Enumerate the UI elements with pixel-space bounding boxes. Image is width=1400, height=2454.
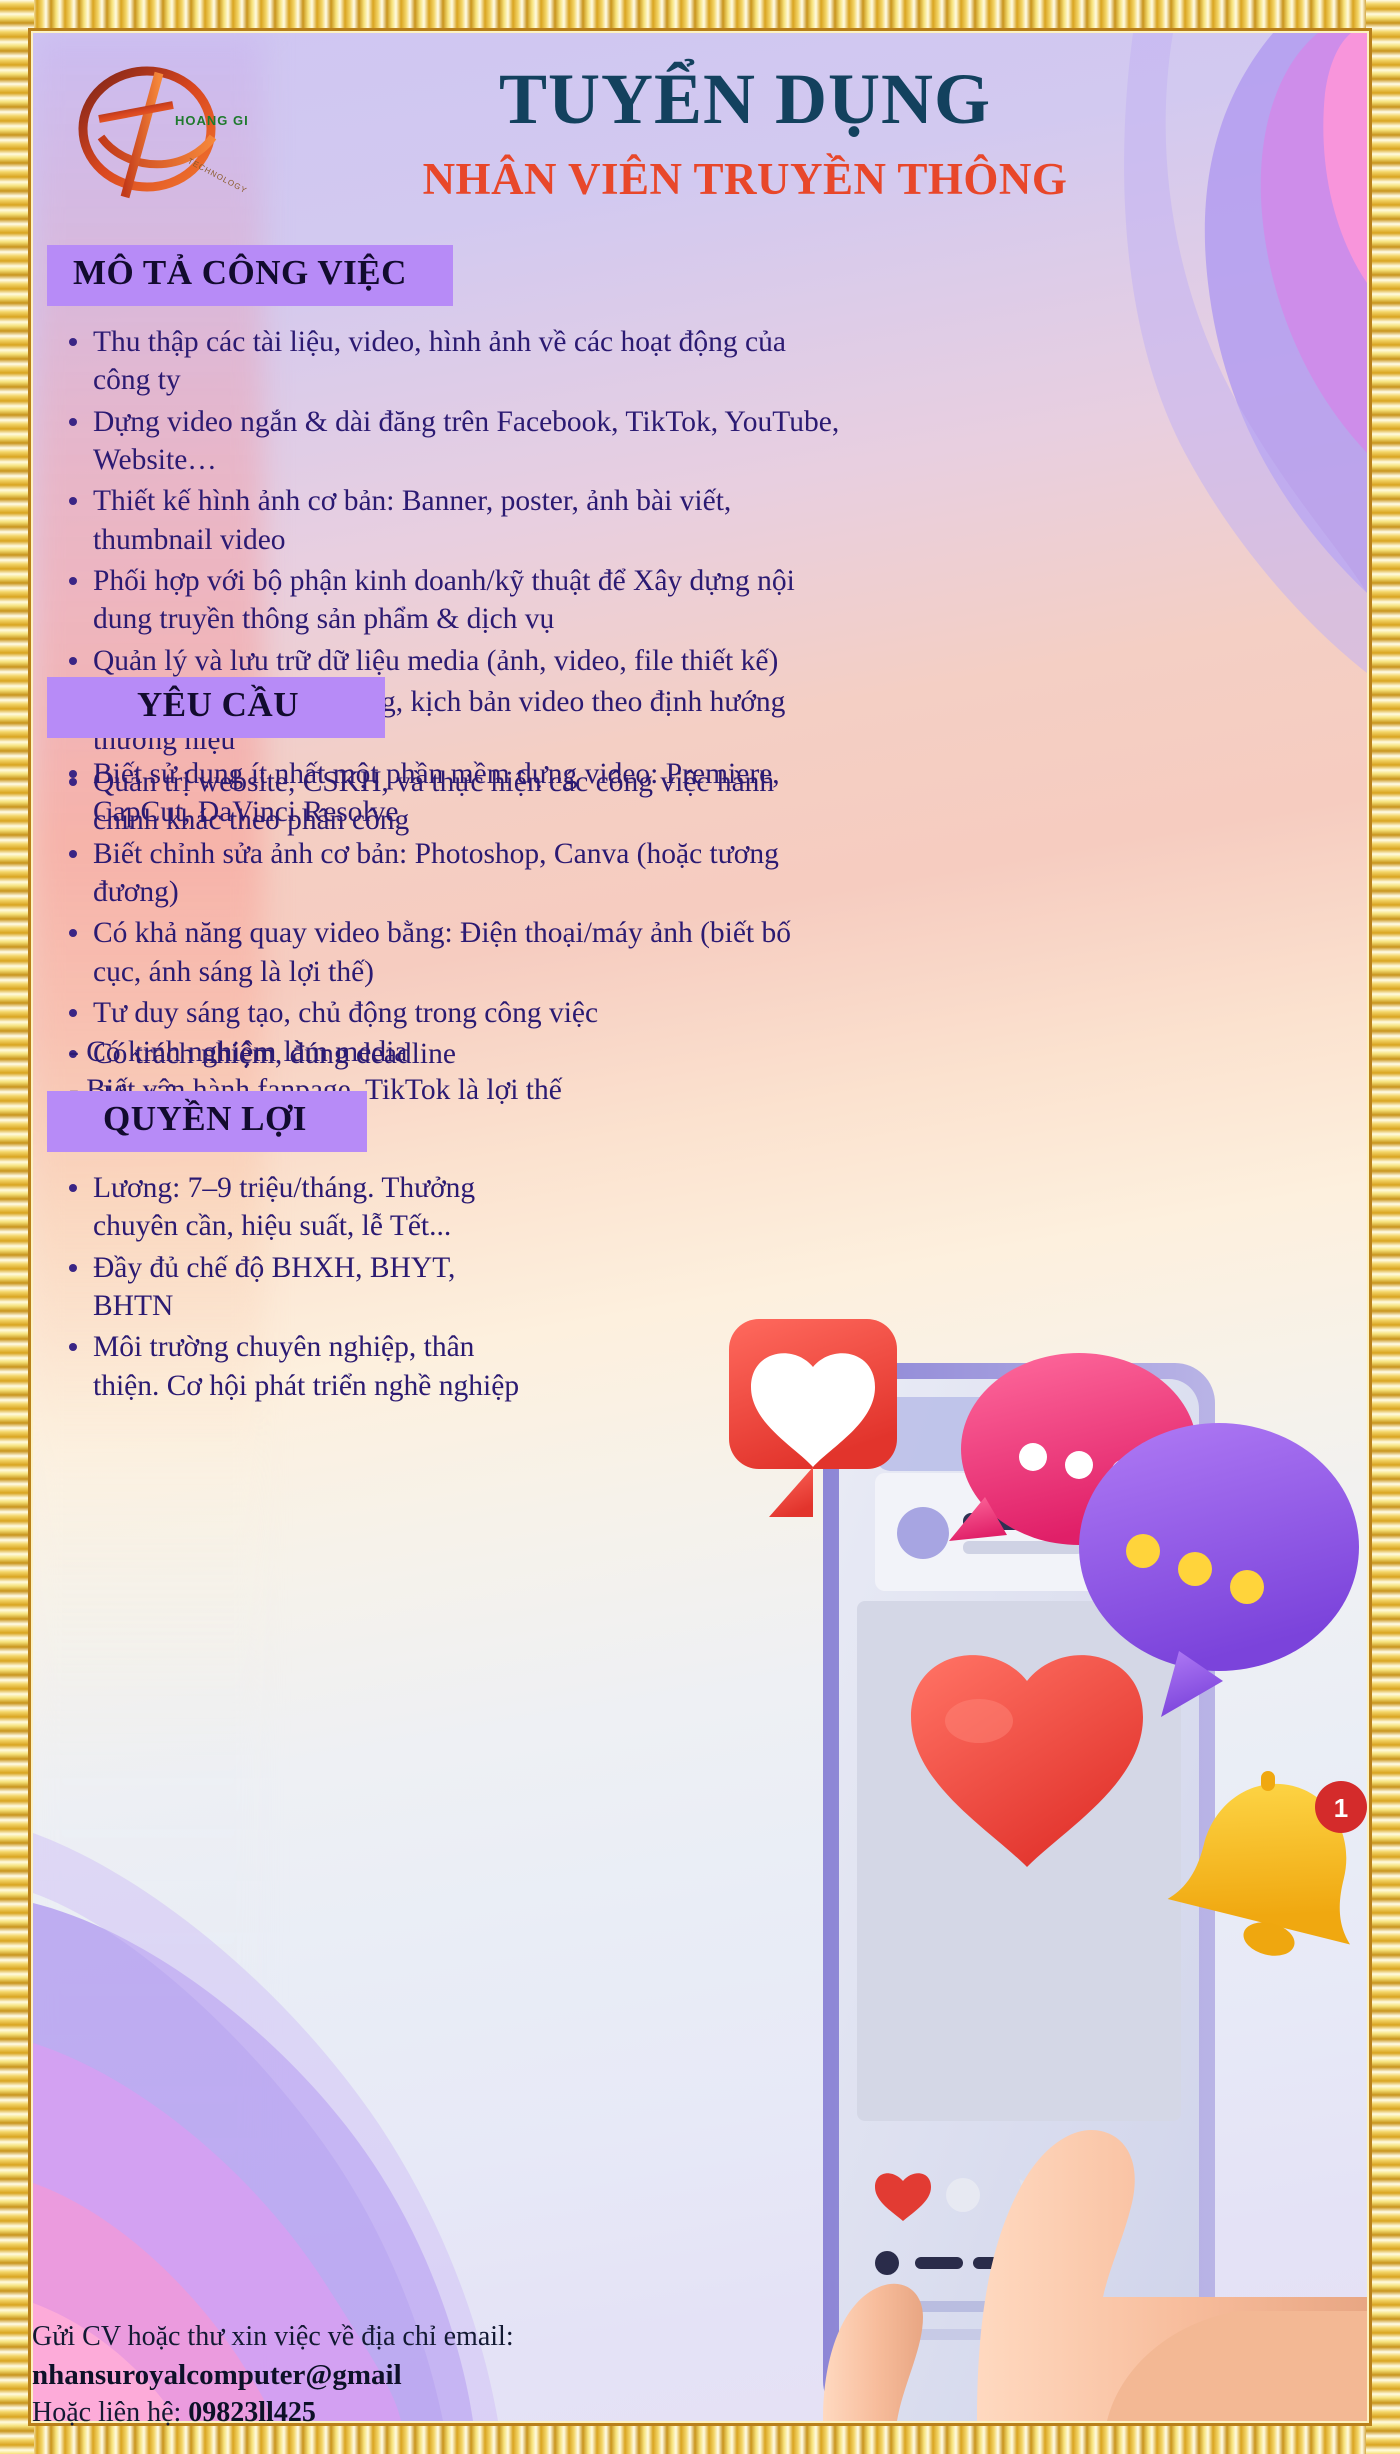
list-item: Thiết kế hình ảnh cơ bản: Banner, poster… [55, 482, 847, 559]
list-item: Môi trường chuyên nghiệp, thân thiện. Cơ… [55, 1328, 537, 1405]
contact-phone-row: Hoặc liên hệ: 09823ll425 [32, 2394, 514, 2432]
list-item: Biết chỉnh sửa ảnh cơ bản: Photoshop, Ca… [55, 835, 837, 912]
contact-phone[interactable]: 09823ll425 [188, 2397, 316, 2428]
contact-email[interactable]: nhansuroyalcomputer@gmail [32, 2356, 514, 2395]
benefits-list: Lương: 7–9 triệu/tháng. Thưởng chuyên cầ… [55, 1169, 537, 1408]
list-item: Đầy đủ chế độ BHXH, BHYT, BHTN [55, 1249, 537, 1326]
requirements-section: YÊU CẦU [47, 677, 385, 738]
company-logo: HOANG GIA TECHNOLOGY [63, 59, 248, 209]
contact-footer: Gửi CV hoặc thư xin việc về địa chỉ emai… [32, 2318, 514, 2432]
logo-company-name: HOANG GIA [175, 113, 248, 128]
list-item: - Có kinh nghiệm làm media [55, 1033, 827, 1071]
recruitment-poster: 1 [0, 0, 1400, 2454]
poster-header: HOANG GIA TECHNOLOGY TUYỂN DỤNG NHÂN VIÊ… [33, 41, 1367, 261]
benefits-heading: QUYỀN LỢI [47, 1091, 367, 1152]
poster-canvas: 1 [33, 33, 1367, 2421]
list-item: Phối hợp với bộ phận kinh doanh/kỹ thuật… [55, 562, 847, 639]
list-item: Biết sử dụng ít nhất một phần mềm dựng v… [55, 755, 837, 832]
page-title: TUYỂN DỤNG [243, 63, 1247, 136]
list-item: Tư duy sáng tạo, chủ động trong công việ… [55, 994, 837, 1032]
list-item: Có khả năng quay video bằng: Điện thoại/… [55, 914, 837, 991]
contact-instruction: Gửi CV hoặc thư xin việc về địa chỉ emai… [32, 2318, 514, 2356]
list-item: Dựng video ngắn & dài đăng trên Facebook… [55, 403, 847, 480]
requirements-heading: YÊU CẦU [47, 677, 385, 738]
job-description-section: MÔ TẢ CÔNG VIỆC [47, 245, 453, 306]
benefits-section: QUYỀN LỢI [47, 1091, 367, 1152]
contact-phone-label: Hoặc liên hệ: [32, 2397, 188, 2428]
page-subtitle: NHÂN VIÊN TRUYỀN THÔNG [243, 156, 1247, 203]
list-item: Quản lý và lưu trữ dữ liệu media (ảnh, v… [55, 642, 847, 680]
job-description-heading: MÔ TẢ CÔNG VIỆC [47, 245, 453, 306]
list-item: Lương: 7–9 triệu/tháng. Thưởng chuyên cầ… [55, 1169, 537, 1246]
list-item: Thu thập các tài liệu, video, hình ảnh v… [55, 323, 847, 400]
logo-tagline: TECHNOLOGY [186, 156, 248, 195]
